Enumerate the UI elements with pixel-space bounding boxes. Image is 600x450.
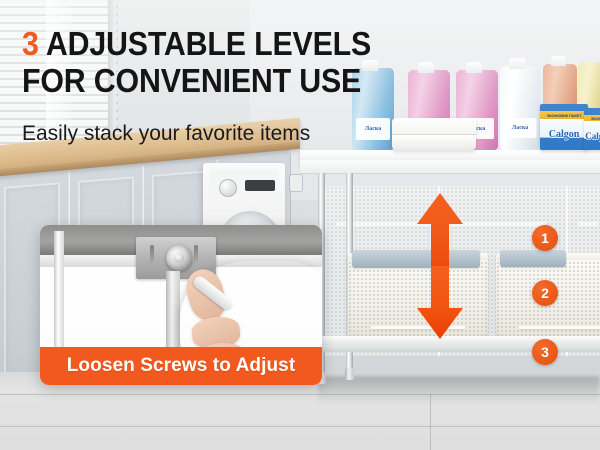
calgon-box-1: ЭКОНОМИК ПАКЕТ Calgon	[540, 104, 588, 150]
detergent-bottle-white: Ласка	[500, 66, 540, 150]
headline-block: 3 ADJUSTABLE LEVELS FOR CONVENIENT USE	[22, 28, 372, 96]
product-marketing-image: VEVOR Ласка Ласка Ласка Ласка	[0, 0, 600, 450]
calgon-wordmark: Calgon	[584, 131, 600, 141]
washer-dial-knob	[219, 179, 237, 197]
level-badge-2[interactable]: 2	[532, 280, 558, 306]
subtitle: Easily stack your favorite items	[22, 122, 310, 146]
bottle-cap-peach	[551, 56, 566, 66]
level-badge-3[interactable]: 3	[532, 339, 558, 365]
calgon-box-2: ЭКОНОМ Calgon	[584, 108, 600, 150]
bottle-cap-pink-2	[466, 62, 482, 73]
arrow-up-icon	[415, 192, 465, 266]
headline-line-2: FOR CONVENIENT USE	[22, 65, 344, 96]
headline-line-1-text: ADJUSTABLE LEVELS	[46, 25, 371, 62]
headline-number: 3	[22, 25, 39, 62]
wall-outlet	[290, 175, 302, 191]
washer-display	[245, 180, 275, 191]
bottle-cap-white	[509, 58, 526, 69]
bottle-label: Ласка	[356, 118, 390, 140]
loosen-screws-callout[interactable]: Loosen Screws to Adjust	[40, 347, 322, 385]
calgon-banner: ЭКОНОМ	[584, 115, 600, 122]
washer-control-panel	[209, 169, 279, 195]
folded-towels-on-table	[392, 118, 476, 150]
table-floor-shadow	[318, 376, 600, 404]
adjustment-screw	[166, 245, 192, 271]
height-adjust-arrows	[415, 192, 465, 340]
arrow-down-icon	[415, 266, 465, 340]
headline-line-1: 3 ADJUSTABLE LEVELS	[22, 28, 344, 59]
calgon-banner: ЭКОНОМИК ПАКЕТ	[540, 111, 588, 118]
table-foot-back-left	[345, 368, 354, 380]
loosen-screws-callout-label: Loosen Screws to Adjust	[67, 355, 296, 377]
bottle-label: Ласка	[504, 118, 537, 138]
table-front-apron: VEVOR	[300, 160, 600, 174]
level-badge-1[interactable]: 1	[532, 225, 558, 251]
calgon-wordmark: Calgon	[540, 129, 588, 140]
basket-handle	[518, 326, 600, 329]
bottle-cap-pink-1	[418, 62, 434, 73]
folded-towel-in-right-basket	[500, 250, 566, 267]
